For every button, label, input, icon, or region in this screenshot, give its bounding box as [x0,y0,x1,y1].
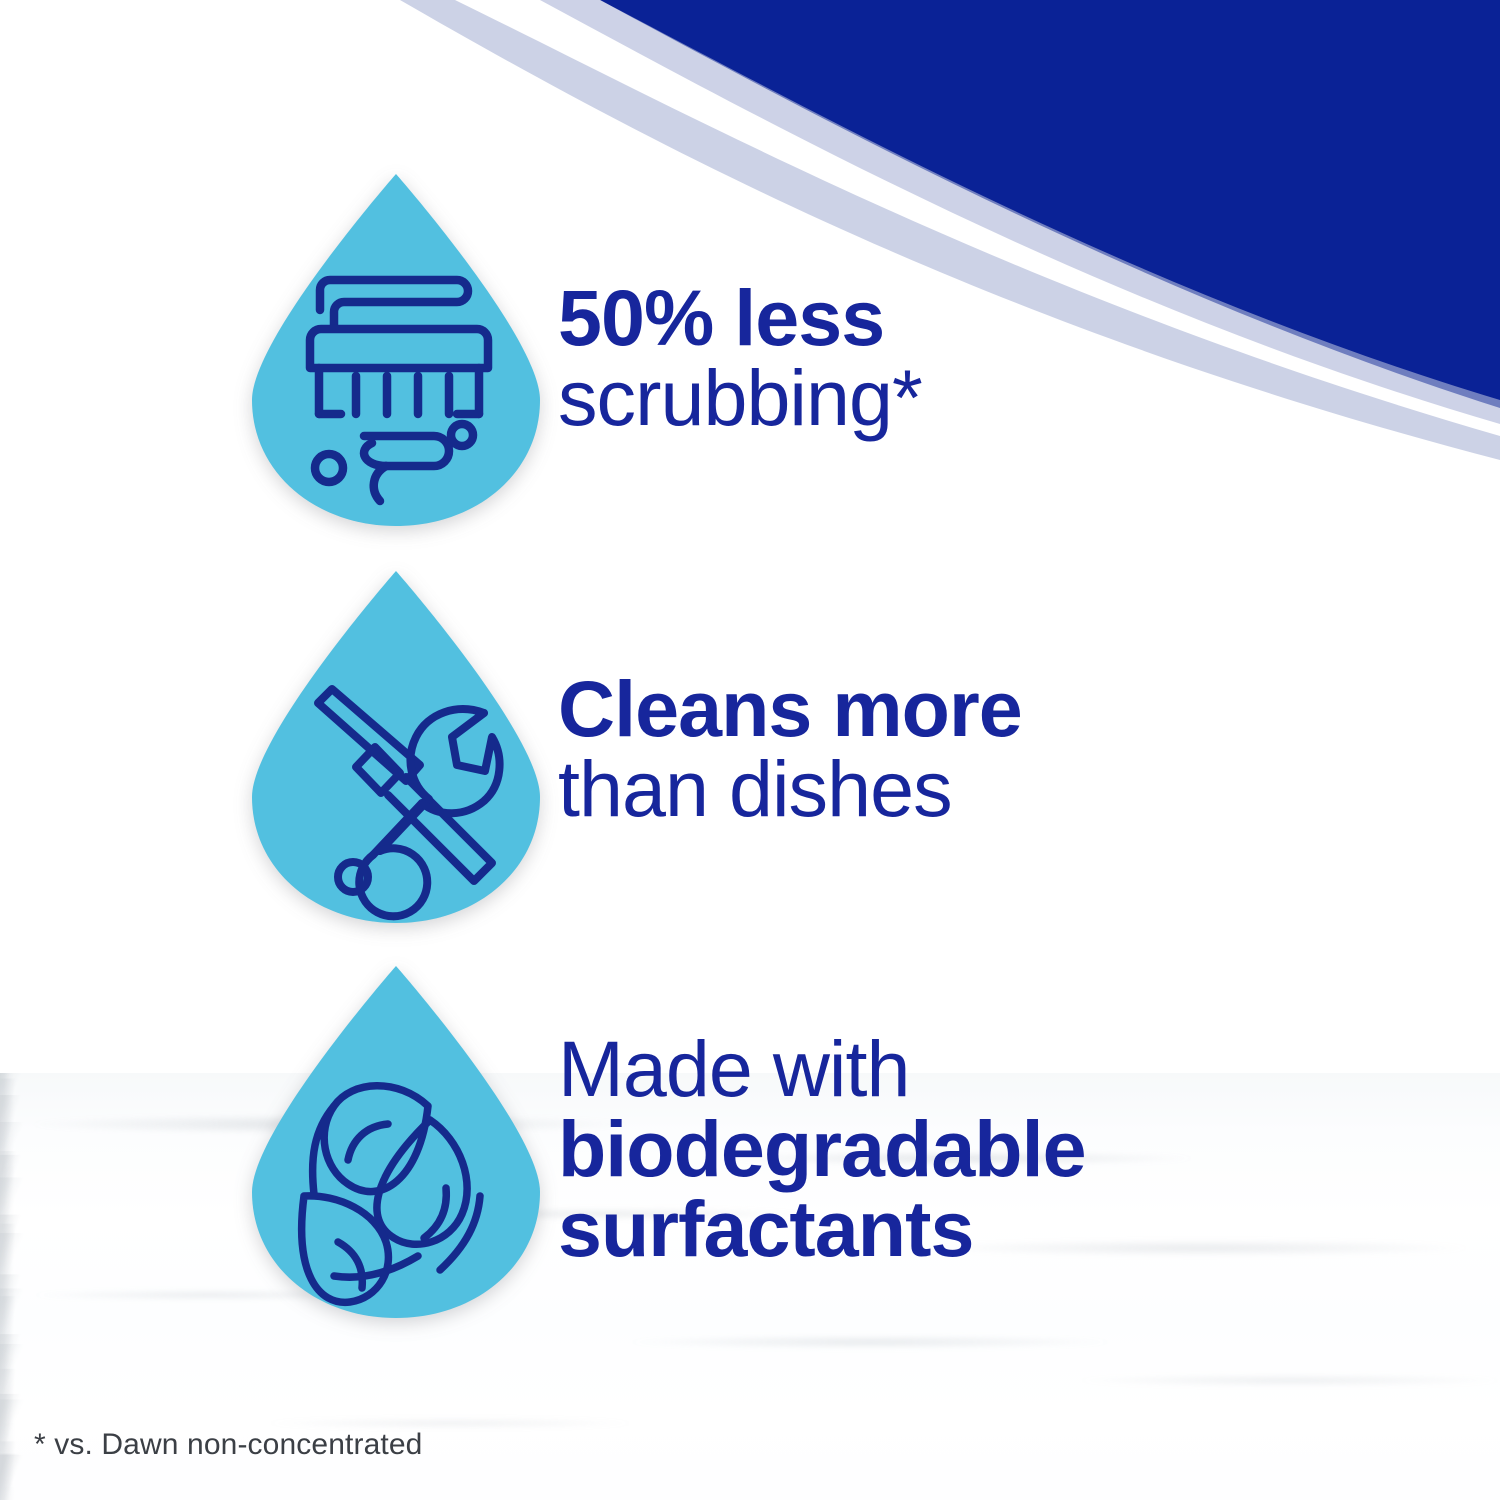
feature-item-scrubbing: 50% less scrubbing* [252,168,922,532]
footnote-disclaimer: * vs. Dawn non-concentrated [34,1428,422,1462]
wrench-screwdriver-icon [252,565,540,929]
feature-line-2: biodegradable [558,1109,1086,1189]
feature-item-cleans-more: Cleans more than dishes [252,565,1022,929]
droplet-badge-2 [252,565,540,929]
droplet-shape [252,174,540,526]
feature-item-biodegradable: Made with biodegradable surfactants [252,960,1086,1324]
infographic-canvas: 50% less scrubbing* [0,0,1500,1500]
feature-text-biodegradable: Made with biodegradable surfactants [558,1029,1086,1268]
feature-text-cleans-more: Cleans more than dishes [558,669,1022,829]
feature-line-2: scrubbing* [558,358,922,438]
recycling-leaves-icon [252,960,540,1324]
feature-line-1: Made with [558,1029,1086,1109]
feature-line-3: surfactants [558,1189,1086,1269]
features-content: 50% less scrubbing* [0,0,1500,1500]
feature-line-1: 50% less [558,278,922,358]
feature-line-1: Cleans more [558,669,1022,749]
feature-line-2: than dishes [558,749,1022,829]
feature-text-scrubbing: 50% less scrubbing* [558,278,922,438]
droplet-badge-3 [252,960,540,1324]
scrub-brush-icon [252,168,540,532]
droplet-badge-1 [252,168,540,532]
